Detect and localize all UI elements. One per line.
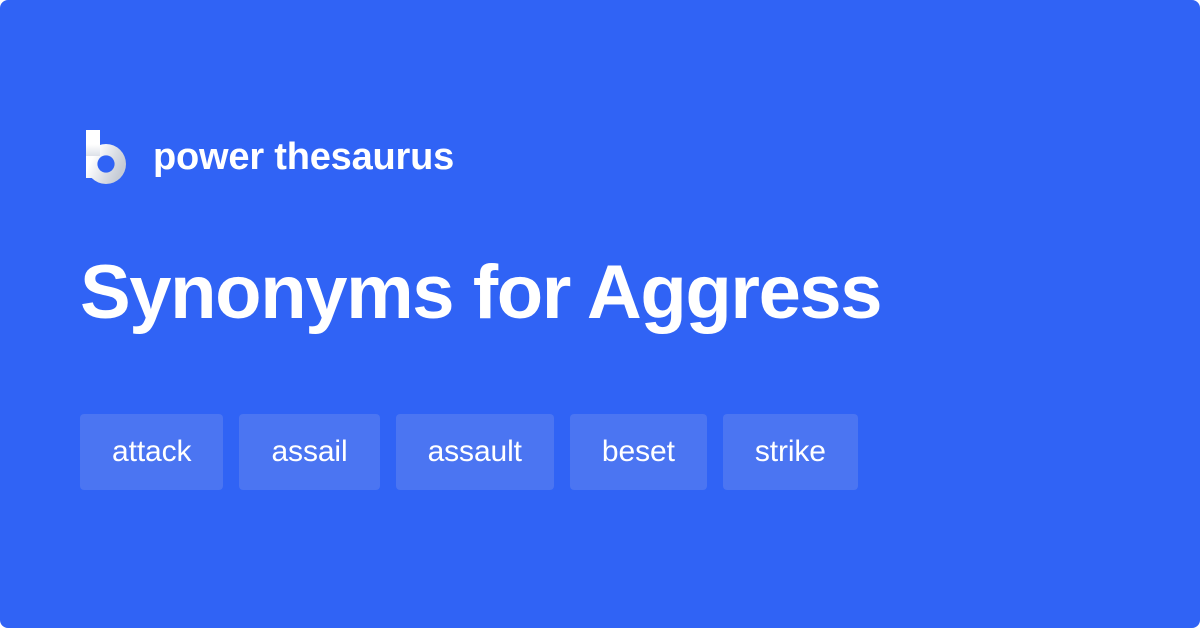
synonym-chip[interactable]: assault — [396, 414, 554, 490]
synonym-chip[interactable]: strike — [723, 414, 858, 490]
synonym-chip[interactable]: assail — [239, 414, 379, 490]
brand-name: power thesaurus — [153, 138, 454, 176]
share-card: power thesaurus Synonyms for Aggress att… — [0, 0, 1200, 628]
synonym-chip[interactable]: attack — [80, 414, 223, 490]
brand-lockup[interactable]: power thesaurus — [80, 128, 454, 186]
synonym-chip[interactable]: beset — [570, 414, 707, 490]
power-thesaurus-b-logo-icon — [80, 130, 126, 184]
synonym-chip-row: attack assail assault beset strike — [80, 414, 858, 490]
page-title: Synonyms for Aggress — [80, 249, 881, 337]
